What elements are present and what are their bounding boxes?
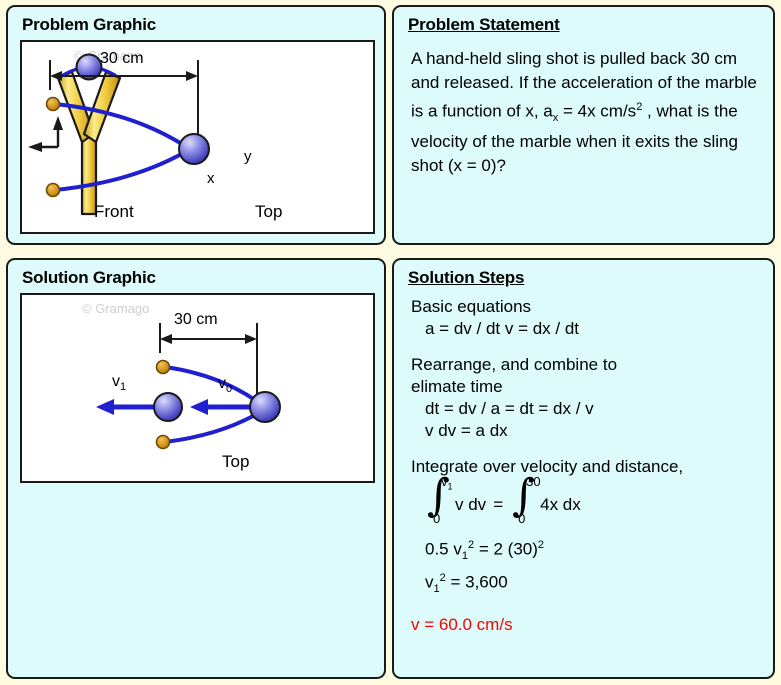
- coordinate-axes: [28, 116, 63, 152]
- step-basic-equations-eq: a = dv / dt v = dx / dt: [411, 318, 763, 340]
- velocity-final-arrow: [96, 399, 162, 415]
- statement-part-2: = 4x cm/s: [558, 102, 636, 121]
- integral-left-upper-limit: v1: [441, 474, 453, 492]
- solution-steps-panel: Solution Steps Basic equations a = dv / …: [392, 258, 775, 679]
- axis-x-label: x: [207, 170, 215, 187]
- integral-right: ∫ 30 0: [510, 478, 540, 528]
- integral-left: ∫ v1 0: [425, 478, 455, 528]
- top-view-label: Top: [222, 452, 249, 472]
- velocity-initial-label: v0: [218, 375, 232, 395]
- integral-equation: ∫ v1 0 v dv= ∫ 30 0 4x dx: [411, 478, 763, 534]
- top-view-label: Top: [255, 202, 282, 222]
- problem-graphic-drawing: [22, 42, 373, 232]
- problem-statement-panel: Problem Statement A hand-held sling shot…: [392, 5, 775, 245]
- problem-dimension-label: 30 cm: [100, 50, 144, 68]
- solution-equation-line-1: 0.5 v12 = 2 (30)2: [411, 534, 763, 567]
- integral-equals: =: [486, 495, 510, 515]
- integral-right-integrand: 4x dx: [540, 495, 581, 515]
- step-basic-equations-head: Basic equations: [411, 296, 763, 318]
- solution-graphic-title: Solution Graphic: [22, 268, 156, 288]
- final-answer: v = 60.0 cm/s: [411, 614, 763, 636]
- front-view-label: Front: [94, 202, 134, 222]
- solution-equation-line-2: v12 = 3,600: [411, 567, 763, 600]
- solution-steps-body: Basic equations a = dv / dt v = dx / dt …: [411, 296, 763, 636]
- step-rearrange-head-line1: Rearrange, and combine to: [411, 354, 763, 376]
- integral-right-upper-limit: 30: [526, 474, 540, 489]
- velocity-final-label: v1: [112, 373, 126, 393]
- axis-y-label: y: [244, 148, 252, 165]
- integral-left-lower-limit: 0: [433, 511, 440, 526]
- solution-graphic-canvas: © Gramago: [20, 293, 375, 483]
- problem-graphic-panel: Problem Graphic © Gramago: [6, 5, 386, 245]
- problem-graphic-canvas: © Gramago: [20, 40, 375, 234]
- slide-page: Problem Graphic © Gramago: [0, 0, 781, 685]
- solution-graphic-panel: Solution Graphic © Gramago: [6, 258, 386, 679]
- integral-right-lower-limit: 0: [518, 511, 525, 526]
- step-rearrange-head-line2: elimate time: [411, 376, 763, 398]
- step-rearrange-eq1: dt = dv / a = dt = dx / v: [411, 398, 763, 420]
- problem-statement-text: A hand-held sling shot is pulled back 30…: [411, 47, 759, 178]
- step-integrate-head: Integrate over velocity and distance,: [411, 456, 763, 478]
- problem-graphic-title: Problem Graphic: [22, 15, 156, 35]
- solution-dimension-label: 30 cm: [174, 311, 218, 329]
- step-rearrange-eq2: v dv = a dx: [411, 420, 763, 442]
- problem-statement-title: Problem Statement: [408, 15, 560, 35]
- solution-steps-title: Solution Steps: [408, 268, 524, 288]
- integral-left-integrand: v dv: [455, 495, 486, 515]
